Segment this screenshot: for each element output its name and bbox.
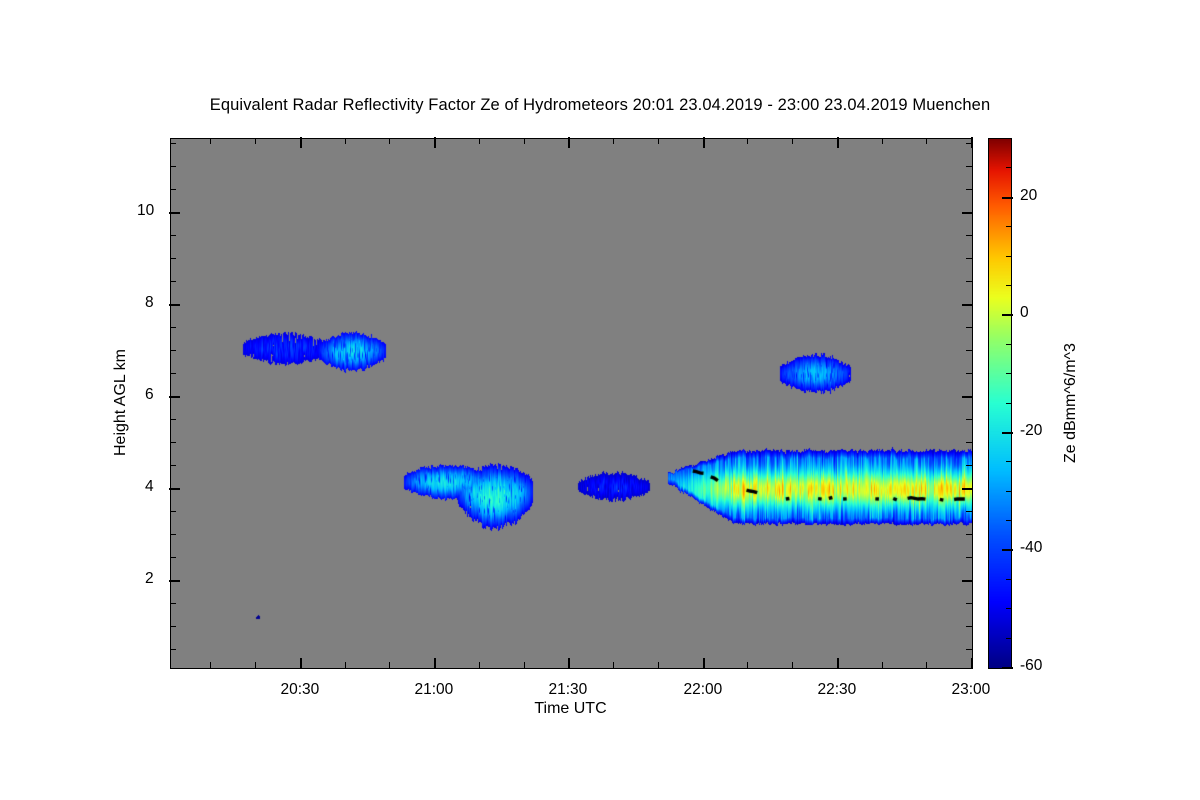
y-minor-tick — [170, 511, 176, 512]
x-major-tick — [837, 658, 839, 669]
y-minor-tick — [170, 235, 176, 236]
colorbar-major-tick — [1002, 667, 1013, 669]
y-minor-tick — [170, 465, 176, 466]
x-minor-tick — [792, 662, 793, 668]
colorbar-tick-label: 20 — [1020, 187, 1037, 205]
x-major-tick — [837, 137, 839, 148]
colorbar-major-tick — [1002, 314, 1013, 316]
y-minor-tick — [170, 143, 176, 144]
x-minor-tick — [210, 662, 211, 668]
x-minor-tick — [613, 138, 614, 144]
y-minor-tick — [170, 442, 176, 443]
colorbar-minor-tick — [1006, 638, 1012, 639]
y-tick-label: 10 — [137, 202, 154, 220]
colorbar-minor-tick — [1006, 461, 1012, 462]
x-minor-tick — [747, 662, 748, 668]
y-axis-label: Height AGL km — [112, 349, 130, 456]
colorbar-tick-label: -60 — [1020, 657, 1042, 675]
y-major-tick — [962, 580, 973, 582]
y-minor-tick — [170, 626, 176, 627]
y-minor-tick — [966, 603, 972, 604]
colorbar-minor-tick — [1006, 520, 1012, 521]
y-minor-tick — [966, 626, 972, 627]
colorbar-tick-label: -40 — [1020, 539, 1042, 557]
y-major-tick — [962, 488, 973, 490]
y-major-tick — [169, 212, 180, 214]
y-minor-tick — [966, 281, 972, 282]
y-tick-label: 8 — [145, 294, 154, 312]
colorbar-label: Ze dBmm^6/m^3 — [1062, 343, 1080, 463]
y-minor-tick — [170, 603, 176, 604]
x-minor-tick — [747, 138, 748, 144]
x-minor-tick — [345, 662, 346, 668]
x-minor-tick — [926, 138, 927, 144]
colorbar-major-tick — [1002, 549, 1013, 551]
x-minor-tick — [479, 662, 480, 668]
x-tick-label: 21:00 — [415, 681, 454, 699]
x-tick-label: 21:30 — [549, 681, 588, 699]
y-major-tick — [962, 396, 973, 398]
colorbar-minor-tick — [1006, 226, 1012, 227]
y-minor-tick — [170, 419, 176, 420]
y-minor-tick — [170, 373, 176, 374]
colorbar-minor-tick — [1006, 256, 1012, 257]
x-major-tick — [568, 137, 570, 148]
y-minor-tick — [966, 534, 972, 535]
x-major-tick — [703, 137, 705, 148]
y-minor-tick — [966, 327, 972, 328]
colorbar-minor-tick — [1006, 403, 1012, 404]
colorbar-minor-tick — [1006, 138, 1012, 139]
y-minor-tick — [966, 419, 972, 420]
y-minor-tick — [966, 442, 972, 443]
colorbar-minor-tick — [1006, 579, 1012, 580]
y-minor-tick — [966, 258, 972, 259]
y-minor-tick — [966, 166, 972, 167]
y-major-tick — [169, 488, 180, 490]
y-minor-tick — [170, 166, 176, 167]
x-minor-tick — [882, 138, 883, 144]
x-major-tick — [300, 137, 302, 148]
x-minor-tick — [613, 662, 614, 668]
y-minor-tick — [966, 350, 972, 351]
x-major-tick — [434, 137, 436, 148]
x-minor-tick — [524, 662, 525, 668]
y-minor-tick — [966, 511, 972, 512]
x-tick-label: 20:30 — [281, 681, 320, 699]
y-minor-tick — [170, 557, 176, 558]
x-major-tick — [300, 658, 302, 669]
x-major-tick — [434, 658, 436, 669]
y-major-tick — [962, 304, 973, 306]
y-minor-tick — [966, 465, 972, 466]
y-tick-label: 4 — [145, 478, 154, 496]
colorbar-minor-tick — [1006, 373, 1012, 374]
x-major-tick — [971, 137, 973, 148]
colorbar-minor-tick — [1006, 167, 1012, 168]
y-major-tick — [169, 396, 180, 398]
x-major-tick — [703, 658, 705, 669]
y-minor-tick — [170, 534, 176, 535]
x-minor-tick — [389, 662, 390, 668]
x-minor-tick — [479, 138, 480, 144]
y-tick-label: 6 — [145, 386, 154, 404]
colorbar-tick-label: -20 — [1020, 422, 1042, 440]
x-minor-tick — [389, 138, 390, 144]
y-major-tick — [169, 304, 180, 306]
y-minor-tick — [966, 649, 972, 650]
x-minor-tick — [658, 662, 659, 668]
reflectivity-heatmap-canvas — [171, 139, 972, 668]
y-minor-tick — [966, 235, 972, 236]
y-minor-tick — [966, 373, 972, 374]
x-tick-label: 22:00 — [684, 681, 723, 699]
y-minor-tick — [170, 649, 176, 650]
y-minor-tick — [966, 557, 972, 558]
y-minor-tick — [170, 281, 176, 282]
plot-area[interactable] — [170, 138, 973, 669]
y-minor-tick — [170, 189, 176, 190]
x-major-tick — [568, 658, 570, 669]
x-minor-tick — [210, 138, 211, 144]
x-minor-tick — [255, 138, 256, 144]
colorbar-tick-label: 0 — [1020, 304, 1029, 322]
y-minor-tick — [966, 189, 972, 190]
colorbar-minor-tick — [1006, 344, 1012, 345]
page-title: Equivalent Radar Reflectivity Factor Ze … — [0, 96, 1200, 115]
y-minor-tick — [170, 258, 176, 259]
x-tick-label: 23:00 — [952, 681, 991, 699]
x-minor-tick — [792, 138, 793, 144]
colorbar-major-tick — [1002, 432, 1013, 434]
y-major-tick — [962, 212, 973, 214]
x-major-tick — [971, 658, 973, 669]
y-minor-tick — [170, 350, 176, 351]
x-axis-label: Time UTC — [170, 700, 971, 718]
radar-reflectivity-figure: Equivalent Radar Reflectivity Factor Ze … — [0, 0, 1200, 800]
x-tick-label: 22:30 — [818, 681, 857, 699]
colorbar-major-tick — [1002, 197, 1013, 199]
x-minor-tick — [524, 138, 525, 144]
y-major-tick — [169, 580, 180, 582]
x-minor-tick — [926, 662, 927, 668]
y-minor-tick — [170, 327, 176, 328]
colorbar-minor-tick — [1006, 285, 1012, 286]
colorbar-minor-tick — [1006, 491, 1012, 492]
y-tick-label: 2 — [145, 570, 154, 588]
x-minor-tick — [882, 662, 883, 668]
x-minor-tick — [345, 138, 346, 144]
x-minor-tick — [658, 138, 659, 144]
x-minor-tick — [255, 662, 256, 668]
colorbar-minor-tick — [1006, 608, 1012, 609]
